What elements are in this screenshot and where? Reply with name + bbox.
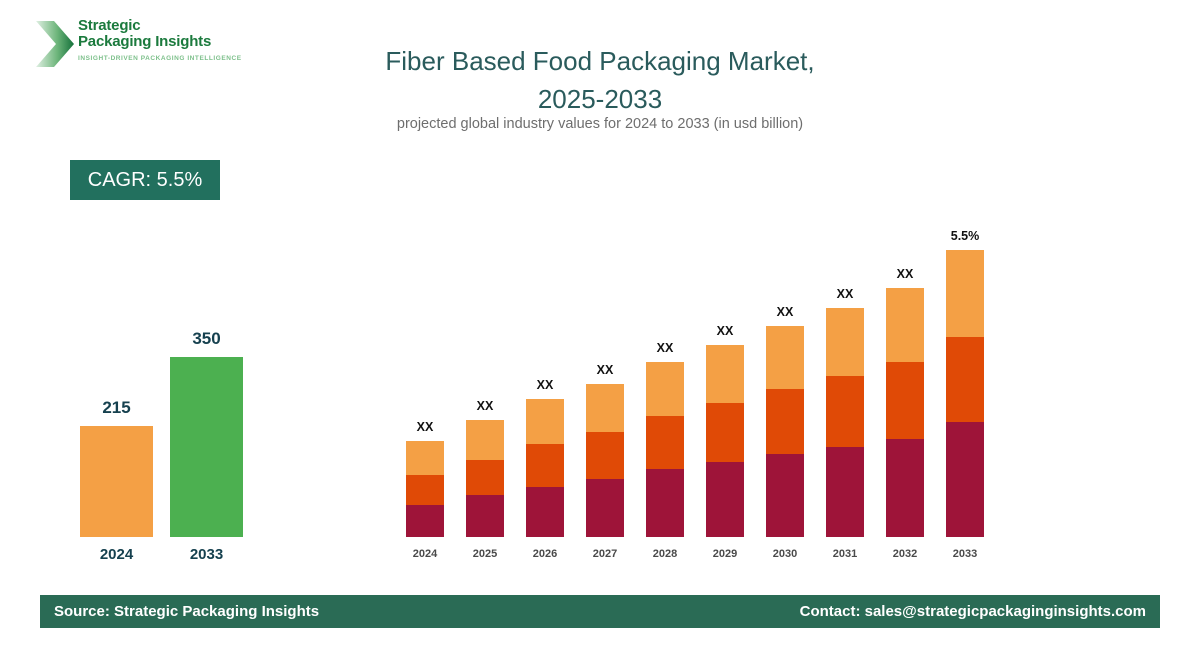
bar-segment[interactable] <box>646 469 684 537</box>
bar-segment[interactable] <box>826 447 864 537</box>
stacked-forecast-chart: XX2024XX2025XX2026XX2027XX2028XX2029XX20… <box>390 200 1020 565</box>
bar-top-label: XX <box>886 267 924 281</box>
bar-segment[interactable] <box>80 426 153 537</box>
bar-value-label: 215 <box>80 398 153 418</box>
bar-segment[interactable] <box>886 362 924 439</box>
bar-segment[interactable] <box>946 337 984 422</box>
bar-segment[interactable] <box>466 460 504 495</box>
bar-segment[interactable] <box>170 357 243 537</box>
bar-column[interactable]: XX2025 <box>466 200 504 565</box>
bar-column[interactable]: XX2029 <box>706 200 744 565</box>
bar-segment[interactable] <box>466 420 504 460</box>
bar-segment[interactable] <box>526 487 564 537</box>
bar-column[interactable]: XX2024 <box>406 200 444 565</box>
bar-x-label: 2032 <box>886 548 924 560</box>
footer-bar: Source: Strategic Packaging Insights Con… <box>40 595 1160 628</box>
bar-top-label: XX <box>466 399 504 413</box>
bar-column[interactable]: 5.5%2033 <box>946 200 984 565</box>
cagr-badge: CAGR: 5.5% <box>70 160 220 200</box>
footer-source: Source: Strategic Packaging Insights <box>54 603 319 620</box>
bar-segment[interactable] <box>946 250 984 337</box>
bar-x-label: 2028 <box>646 548 684 560</box>
logo-line-2: Packaging Insights <box>78 34 254 50</box>
bar-segment[interactable] <box>706 462 744 537</box>
bar-column[interactable]: XX2030 <box>766 200 804 565</box>
logo-line-1: Strategic <box>78 18 254 34</box>
bar-segment[interactable] <box>766 454 804 537</box>
bar-value-label: 350 <box>170 329 243 349</box>
bar-segment[interactable] <box>766 389 804 454</box>
bar-segment[interactable] <box>586 384 624 432</box>
chevron-right-icon <box>34 19 76 69</box>
bar-segment[interactable] <box>406 441 444 475</box>
bar-top-label: XX <box>526 378 564 392</box>
page-title: Fiber Based Food Packaging Market, 2025-… <box>300 42 900 118</box>
bar-x-label: 2024 <box>80 546 153 563</box>
bar-x-label: 2033 <box>170 546 243 563</box>
bar-top-label: XX <box>646 341 684 355</box>
bar-segment[interactable] <box>706 403 744 462</box>
bar-x-label: 2029 <box>706 548 744 560</box>
bar-segment[interactable] <box>886 288 924 362</box>
bar-column[interactable]: XX2032 <box>886 200 924 565</box>
bar-top-label: XX <box>766 305 804 319</box>
brand-logo: Strategic Packaging Insights INSIGHT-DRI… <box>34 16 254 76</box>
footer-contact: Contact: sales@strategicpackaginginsight… <box>800 603 1146 620</box>
bar-segment[interactable] <box>586 432 624 479</box>
bar-column[interactable]: 2152024 <box>80 220 153 565</box>
endpoint-comparison-chart: 21520243502033 <box>40 220 290 565</box>
bar-segment[interactable] <box>706 345 744 403</box>
bar-segment[interactable] <box>526 444 564 487</box>
bar-segment[interactable] <box>406 475 444 505</box>
bar-x-label: 2025 <box>466 548 504 560</box>
bar-segment[interactable] <box>946 422 984 537</box>
bar-segment[interactable] <box>826 376 864 447</box>
bar-x-label: 2030 <box>766 548 804 560</box>
bar-segment[interactable] <box>466 495 504 537</box>
bar-segment[interactable] <box>826 308 864 376</box>
page-subtitle: projected global industry values for 202… <box>300 116 900 132</box>
bar-top-label: 5.5% <box>946 229 984 243</box>
bar-top-label: XX <box>706 324 744 338</box>
bar-top-label: XX <box>586 363 624 377</box>
bar-top-label: XX <box>406 420 444 434</box>
bar-x-label: 2031 <box>826 548 864 560</box>
bar-column[interactable]: XX2028 <box>646 200 684 565</box>
bar-x-label: 2033 <box>946 548 984 560</box>
bar-column[interactable]: 3502033 <box>170 220 243 565</box>
bar-segment[interactable] <box>646 416 684 469</box>
bar-column[interactable]: XX2027 <box>586 200 624 565</box>
bar-segment[interactable] <box>646 362 684 416</box>
bar-x-label: 2027 <box>586 548 624 560</box>
page-title-line-1: Fiber Based Food Packaging Market, <box>300 42 900 80</box>
logo-wordmark: Strategic Packaging Insights INSIGHT-DRI… <box>78 18 254 62</box>
bar-column[interactable]: XX2031 <box>826 200 864 565</box>
bar-segment[interactable] <box>406 505 444 537</box>
bar-x-label: 2024 <box>406 548 444 560</box>
page-title-line-2: 2025-2033 <box>300 80 900 118</box>
logo-tagline: INSIGHT-DRIVEN PACKAGING INTELLIGENCE <box>78 55 254 62</box>
bar-segment[interactable] <box>586 479 624 537</box>
bar-x-label: 2026 <box>526 548 564 560</box>
bar-segment[interactable] <box>526 399 564 444</box>
bar-top-label: XX <box>826 287 864 301</box>
bar-segment[interactable] <box>766 326 804 389</box>
bar-segment[interactable] <box>886 439 924 537</box>
bar-column[interactable]: XX2026 <box>526 200 564 565</box>
